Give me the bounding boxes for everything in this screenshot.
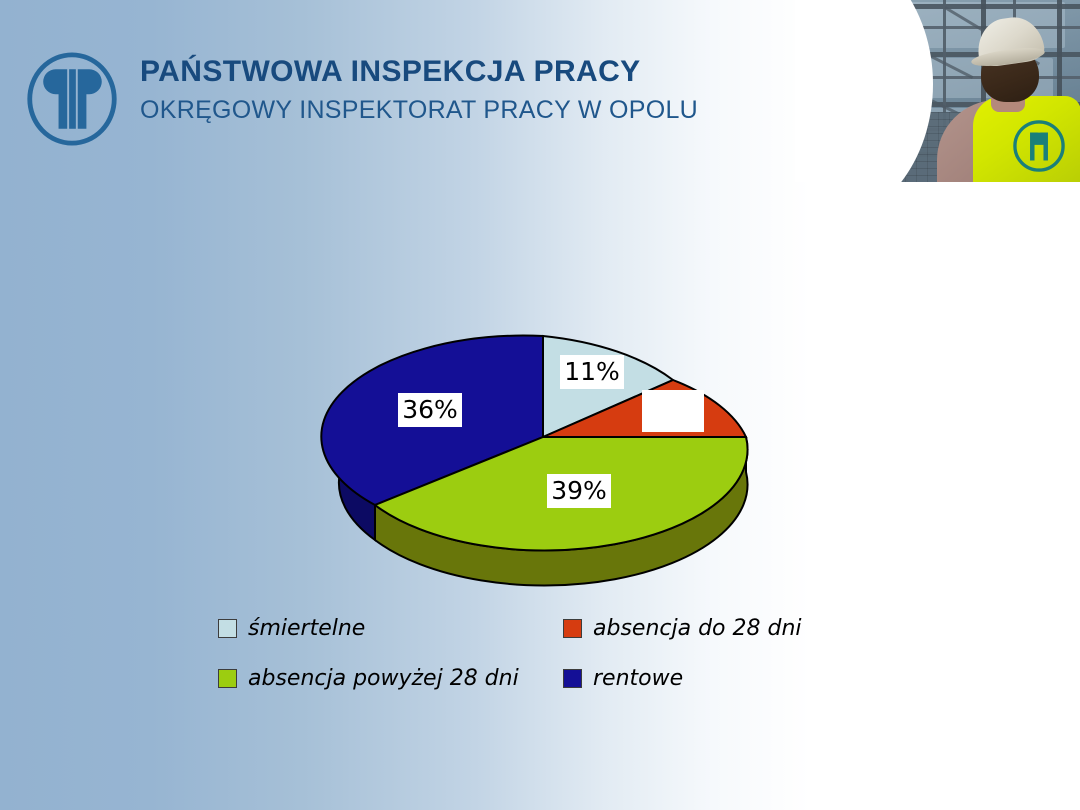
pie-label-smiertelne: 11%	[560, 355, 624, 389]
legend-label: absencja powyżej 28 dni	[248, 666, 519, 691]
pie-label-rentowe: 36%	[398, 393, 462, 427]
pip-logo-icon	[24, 50, 120, 148]
legend-swatch-icon	[563, 669, 582, 688]
legend-swatch-icon	[218, 619, 237, 638]
legend-row: absencja powyżej 28 dni rentowe	[218, 666, 858, 716]
chart-legend: śmiertelne absencja do 28 dni absencja p…	[218, 616, 858, 716]
header-photo	[795, 0, 1080, 182]
page-title: PAŃSTWOWA INSPEKCJA PRACY	[140, 52, 780, 92]
legend-swatch-icon	[218, 669, 237, 688]
legend-label: absencja do 28 dni	[593, 616, 802, 641]
legend-item-absencja-powyzej-28[interactable]: absencja powyżej 28 dni	[218, 666, 563, 691]
legend-row: śmiertelne absencja do 28 dni	[218, 616, 858, 666]
page-subtitle: OKRĘGOWY INSPEKTORAT PRACY W OPOLU	[140, 92, 780, 128]
pie-chart	[318, 318, 778, 598]
legend-item-rentowe[interactable]: rentowe	[563, 666, 683, 691]
header-title-block: PAŃSTWOWA INSPEKCJA PRACY OKRĘGOWY INSPE…	[140, 52, 780, 128]
pie-label-absencja-powyzej-28: 39%	[547, 474, 611, 508]
slide-root: PAŃSTWOWA INSPEKCJA PRACY OKRĘGOWY INSPE…	[0, 0, 1080, 810]
legend-item-absencja-do-28[interactable]: absencja do 28 dni	[563, 616, 802, 641]
legend-swatch-icon	[563, 619, 582, 638]
pie-label-absencja-do-28	[642, 390, 704, 432]
photo-left-fade	[795, 0, 821, 182]
legend-item-smiertelne[interactable]: śmiertelne	[218, 616, 563, 641]
pie-chart-svg	[318, 318, 778, 598]
pip-logo-icon	[1011, 118, 1067, 174]
legend-label: rentowe	[593, 666, 683, 691]
legend-label: śmiertelne	[248, 616, 365, 641]
